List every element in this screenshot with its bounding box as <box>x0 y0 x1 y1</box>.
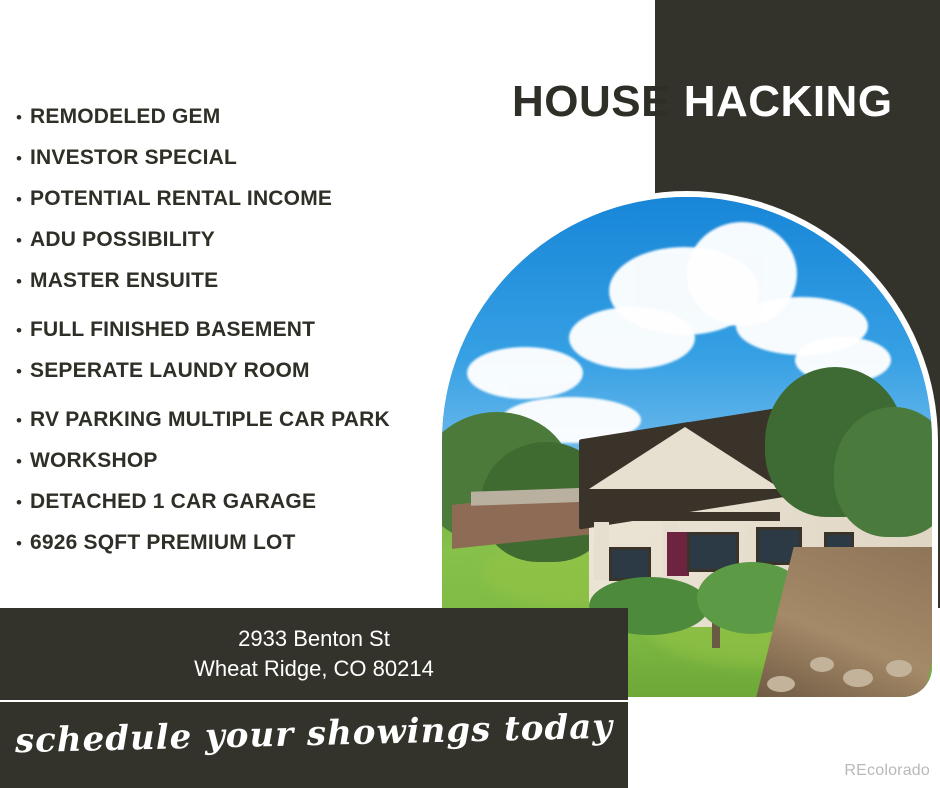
bullet-icon: • <box>16 310 30 351</box>
address-block: 2933 Benton St Wheat Ridge, CO 80214 <box>0 608 628 700</box>
list-item-label: 6926 SQFT PREMIUM LOT <box>30 522 296 563</box>
list-item: • 6926 SQFT PREMIUM LOT <box>16 522 436 563</box>
list-item: • REMODELED GEM <box>16 96 436 137</box>
stone <box>810 657 834 672</box>
bullet-icon: • <box>16 441 30 482</box>
address-city-state-zip: Wheat Ridge, CO 80214 <box>64 654 564 684</box>
list-item-label: WORKSHOP <box>30 440 158 481</box>
cta-script-text: schedule your showings today <box>0 706 628 761</box>
list-item: • INVESTOR SPECIAL <box>16 137 436 178</box>
stone <box>767 676 795 692</box>
cta-band: schedule your showings today <box>0 702 628 788</box>
house-gable <box>589 427 781 489</box>
list-item-label: FULL FINISHED BASEMENT <box>30 309 315 350</box>
bullet-icon: • <box>16 220 30 261</box>
list-item-label: INVESTOR SPECIAL <box>30 137 237 178</box>
title-word-house: HOUSE <box>512 77 671 126</box>
list-item: • ADU POSSIBILITY <box>16 219 436 260</box>
real-estate-flyer: HOUSE HACKING • REMODELED GEM • INVESTOR… <box>0 0 940 788</box>
feature-list: • REMODELED GEM • INVESTOR SPECIAL • POT… <box>16 96 436 563</box>
list-item-label: DETACHED 1 CAR GARAGE <box>30 481 316 522</box>
list-item-label: RV PARKING MULTIPLE CAR PARK <box>30 399 390 440</box>
list-item-label: SEPERATE LAUNDY ROOM <box>30 350 310 391</box>
list-item-label: MASTER ENSUITE <box>30 260 218 301</box>
bullet-icon: • <box>16 482 30 523</box>
bullet-icon: • <box>16 179 30 220</box>
list-item: • WORKSHOP <box>16 440 436 481</box>
list-item-label: ADU POSSIBILITY <box>30 219 215 260</box>
list-item: • RV PARKING MULTIPLE CAR PARK <box>16 399 436 440</box>
stone <box>843 669 873 687</box>
title-word-hacking: HACKING <box>684 77 893 126</box>
watermark-label: REcolorado <box>844 762 930 780</box>
porch-column <box>594 522 609 580</box>
list-item: • POTENTIAL RENTAL INCOME <box>16 178 436 219</box>
list-item: • DETACHED 1 CAR GARAGE <box>16 481 436 522</box>
bullet-icon: • <box>16 351 30 392</box>
bullet-icon: • <box>16 97 30 138</box>
list-item: • SEPERATE LAUNDY ROOM <box>16 350 436 391</box>
list-item: • FULL FINISHED BASEMENT <box>16 309 436 350</box>
page-title: HOUSE HACKING <box>512 76 932 128</box>
cloud <box>569 307 695 369</box>
porch-beam <box>584 512 780 521</box>
list-item-label: REMODELED GEM <box>30 96 220 137</box>
bullet-icon: • <box>16 261 30 302</box>
list-item-label: POTENTIAL RENTAL INCOME <box>30 178 332 219</box>
cloud <box>467 347 583 399</box>
bullet-icon: • <box>16 138 30 179</box>
address-street: 2933 Benton St <box>64 608 564 654</box>
bullet-icon: • <box>16 400 30 441</box>
bullet-icon: • <box>16 523 30 564</box>
window <box>609 547 651 581</box>
list-item: • MASTER ENSUITE <box>16 260 436 301</box>
